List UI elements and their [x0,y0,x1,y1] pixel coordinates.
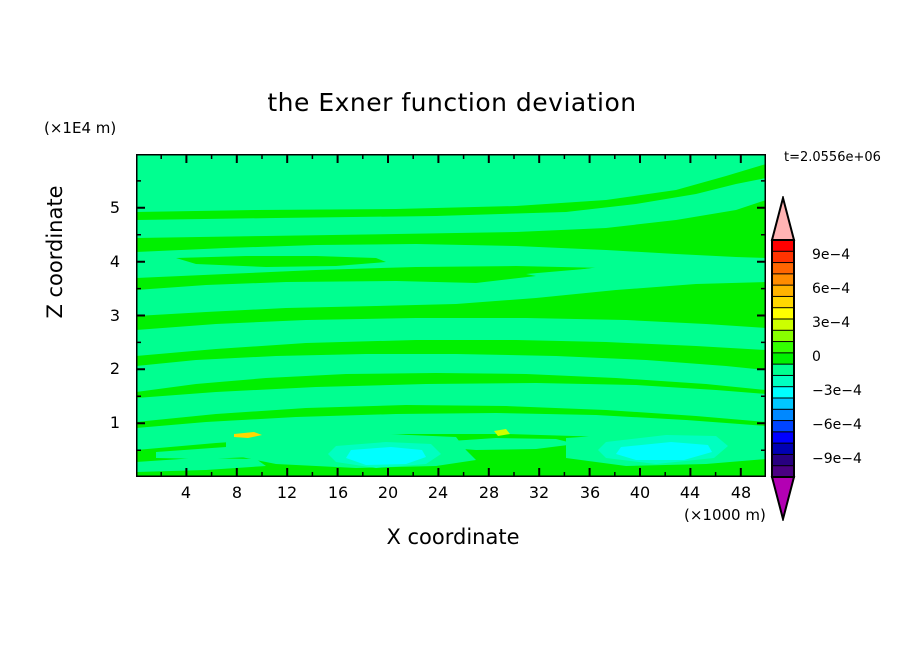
x-axis-unit: (×1000 m) [684,506,766,524]
y-tick-label: 4 [96,252,120,271]
colorbar[interactable] [770,196,816,521]
colorbar-band [772,432,794,444]
colorbar-band [772,308,794,320]
colorbar-svg [770,196,816,521]
colorbar-band [772,375,794,387]
colorbar-tick-label: 6e−4 [812,281,850,297]
x-tick-label: 48 [721,483,761,502]
colorbar-band [772,398,794,410]
y-axis-title: Z coordinate [43,177,67,327]
colorbar-tick-label: 3e−4 [812,315,850,331]
x-tick-label: 24 [418,483,458,502]
page-title: the Exner function deviation [0,88,904,117]
y-axis-unit: (×1E4 m) [44,119,116,137]
colorbar-band [772,296,794,308]
colorbar-under-arrow [772,477,794,519]
y-tick-label: 3 [96,306,120,325]
colorbar-over-arrow [772,198,794,240]
colorbar-band [772,330,794,342]
x-tick-label: 44 [670,483,710,502]
y-tick-label: 5 [96,198,120,217]
x-tick-label: 4 [166,483,206,502]
colorbar-band [772,387,794,399]
y-tick-label: 2 [96,359,120,378]
x-tick-label: 16 [318,483,358,502]
x-tick-label: 32 [519,483,559,502]
x-tick-label: 28 [469,483,509,502]
colorbar-tick-label: −6e−4 [812,417,862,433]
colorbar-band [772,274,794,286]
contour-field [136,154,766,477]
colorbar-band [772,285,794,297]
colorbar-band [772,263,794,275]
colorbar-tick-label: 9e−4 [812,247,850,263]
colorbar-band [772,443,794,455]
colorbar-tick-label: −3e−4 [812,383,862,399]
colorbar-band [772,409,794,421]
x-tick-label: 8 [217,483,257,502]
colorbar-band [772,319,794,331]
colorbar-tick-label: −9e−4 [812,451,862,467]
colorbar-band [772,251,794,263]
x-tick-label: 36 [570,483,610,502]
colorbar-band [772,454,794,466]
colorbar-band [772,421,794,433]
colorbar-bands [772,240,794,478]
colorbar-band [772,466,794,478]
x-tick-label: 40 [620,483,660,502]
x-tick-label: 12 [267,483,307,502]
colorbar-band [772,353,794,365]
x-tick-label: 20 [368,483,408,502]
timestamp-annotation: t=2.0556e+06 [784,150,881,165]
x-axis-title: X coordinate [228,525,678,549]
colorbar-band [772,342,794,354]
contour-plot-area [136,154,766,477]
colorbar-band [772,240,794,252]
y-tick-label: 1 [96,413,120,432]
colorbar-band [772,364,794,376]
contour-bands [136,154,766,477]
colorbar-tick-label: 0 [812,349,821,365]
